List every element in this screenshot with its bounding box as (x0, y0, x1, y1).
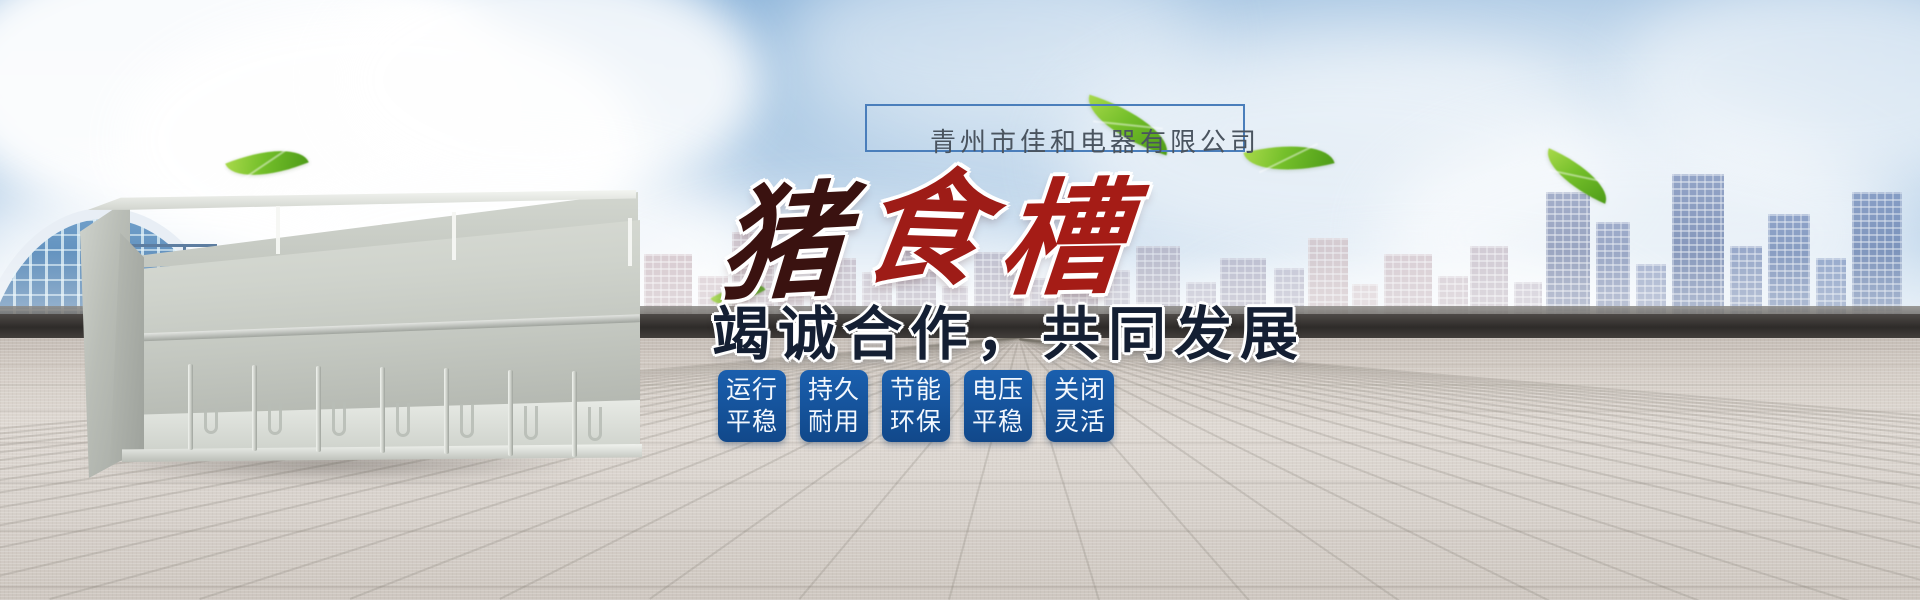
plaza-grid-line (0, 482, 1920, 484)
feature-badge-3[interactable]: 节能环保 (882, 370, 950, 442)
trough-top-divider (628, 218, 632, 266)
page-subtitle: 竭诚合作，共同发展 (712, 302, 1452, 366)
headline-char: 槽 (994, 169, 1147, 311)
feature-badge-5[interactable]: 关闭灵活 (1046, 370, 1114, 442)
feature-badge-1[interactable]: 运行平稳 (718, 370, 786, 442)
feature-badge-line2: 环保 (890, 406, 942, 438)
headline-char: 猪 (716, 170, 864, 317)
trough-divider-bar (252, 365, 257, 451)
trough-divider-bar (508, 370, 513, 456)
trough-wire-loop (588, 407, 602, 441)
trough-wire-loop (524, 406, 538, 440)
brand-line: 青州市佳和电器有限公司 (700, 96, 1460, 170)
trough-divider-bar (444, 368, 449, 454)
feature-badge-line2: 平稳 (726, 406, 778, 438)
company-name: 青州市佳和电器有限公司 (930, 122, 1450, 159)
trough-wire-loop (268, 401, 282, 435)
page-title: 猪食槽 (713, 168, 1428, 308)
feature-badge-line2: 耐用 (808, 406, 860, 438)
feature-badge-4[interactable]: 电压平稳 (964, 370, 1032, 442)
trough-wire-loop (332, 402, 346, 436)
trough-top-divider (452, 212, 456, 260)
feature-badge-line2: 灵活 (1054, 406, 1106, 438)
trough-divider-bar (188, 364, 193, 450)
trough-wire-loop (460, 404, 474, 438)
feature-badge-line2: 平稳 (972, 406, 1024, 438)
headline-char: 食 (852, 158, 1011, 303)
promo-banner: 青州市佳和电器有限公司 猪食槽 竭诚合作，共同发展 运行平稳持久耐用节能环保电压… (0, 0, 1920, 600)
plaza-grid-line (0, 530, 1920, 532)
feature-badge-line1: 节能 (890, 374, 942, 406)
feature-badge-line1: 关闭 (1054, 374, 1106, 406)
banner-text-block: 青州市佳和电器有限公司 猪食槽 竭诚合作，共同发展 (700, 96, 1460, 170)
trough-top-divider (276, 206, 280, 254)
trough-wire-loop (396, 403, 410, 437)
feature-badge-line1: 电压 (972, 374, 1024, 406)
trough-divider-bar (380, 367, 385, 453)
feature-badge-2[interactable]: 持久耐用 (800, 370, 868, 442)
trough-wire-loop (204, 400, 218, 434)
feature-badge-line1: 运行 (726, 374, 778, 406)
feature-badge-line1: 持久 (808, 374, 860, 406)
plaza-grid-line (0, 586, 1920, 588)
trough-divider-bar (316, 366, 321, 452)
product-image-pig-feed-trough (80, 168, 640, 480)
feature-badge-list: 运行平稳持久耐用节能环保电压平稳关闭灵活 (718, 370, 1114, 442)
trough-divider-bar (572, 371, 577, 457)
